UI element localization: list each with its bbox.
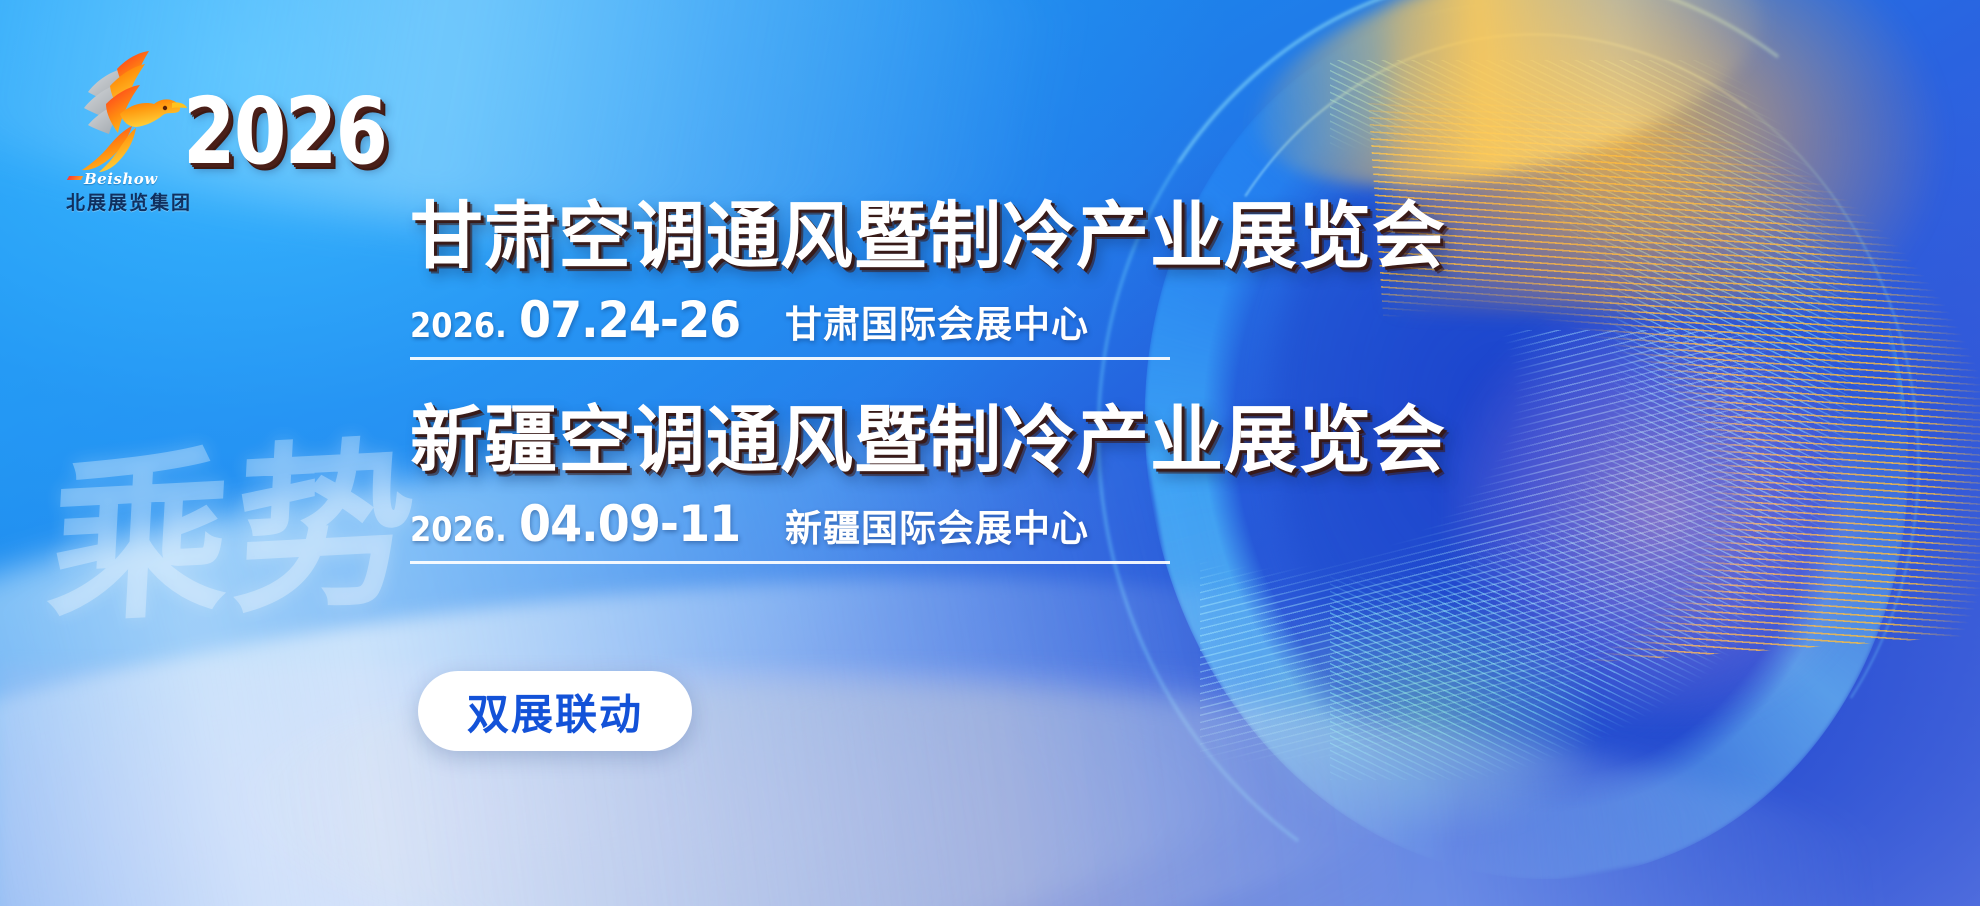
background-green-glint — [1260, 600, 1590, 830]
dual-show-badge[interactable]: 双展联动 — [418, 671, 692, 751]
exhibition-date-year: 2026. — [410, 510, 507, 550]
exhibition-venue: 甘肃国际会展中心 — [785, 294, 1089, 348]
exhibition-title: 新疆空调通风暨制冷产业展览会 — [410, 402, 1610, 481]
exhibition-banner: 乘势 — [0, 0, 1980, 906]
exhibition-venue: 新疆国际会展中心 — [785, 498, 1089, 552]
logo-company-name: 北展展览集团 — [66, 188, 192, 215]
exhibition-date-venue-row: 2026. 04.09-11 新疆国际会展中心 — [410, 495, 1170, 564]
exhibition-date-year: 2026. — [410, 306, 507, 346]
dual-show-badge-label: 双展联动 — [467, 681, 643, 742]
calligraphy-watermark: 乘势 — [63, 387, 407, 649]
exhibition-date-range: 04.09-11 — [519, 495, 740, 553]
logo-script-text: Beishow — [84, 170, 158, 188]
exhibition-date-venue-row: 2026. 07.24-26 甘肃国际会展中心 — [410, 291, 1170, 360]
exhibition-block-gansu: 甘肃空调通风暨制冷产业展览会 2026. 07.24-26 甘肃国际会展中心 — [410, 198, 1610, 360]
exhibition-content: 甘肃空调通风暨制冷产业展览会 2026. 07.24-26 甘肃国际会展中心 新… — [410, 198, 1610, 564]
exhibition-date-range: 07.24-26 — [519, 291, 740, 349]
phoenix-bird-logo-icon — [60, 42, 190, 172]
exhibition-title: 甘肃空调通风暨制冷产业展览会 — [410, 198, 1610, 277]
exhibition-block-xinjiang: 新疆空调通风暨制冷产业展览会 2026. 04.09-11 新疆国际会展中心 — [410, 402, 1610, 564]
background-violet-wash — [0, 666, 1400, 906]
year-label: 2026 — [183, 86, 386, 178]
